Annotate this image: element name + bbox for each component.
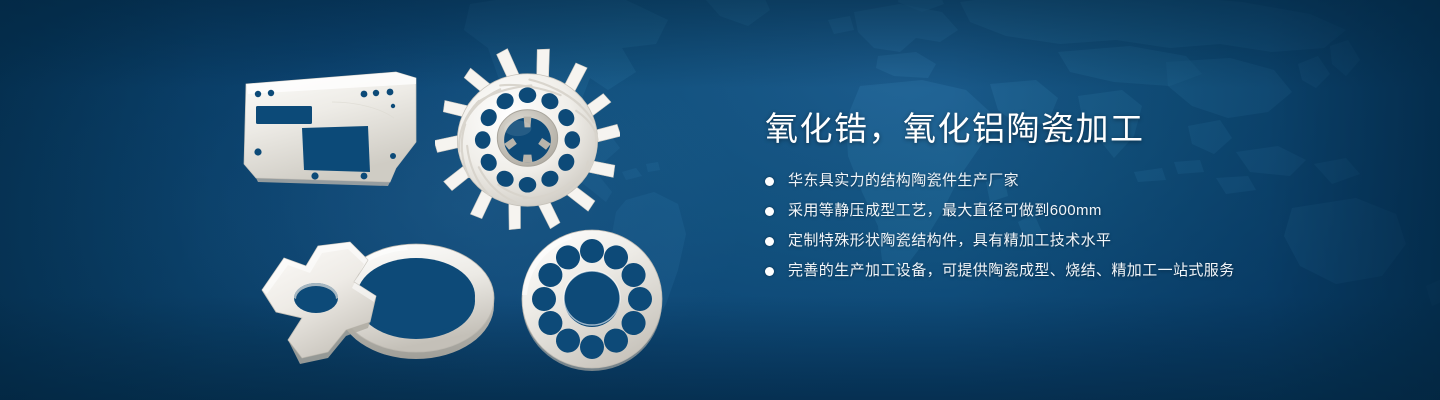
banner-headline: 氧化锆，氧化铝陶瓷加工 [765,108,1385,150]
feature-item: 采用等静压成型工艺，最大直径可做到600mm [765,200,1385,222]
ceramic-perforated-disc-image [512,225,672,375]
bullet-dot-icon [765,267,774,276]
feature-item: 完善的生产加工设备，可提供陶瓷成型、烧结、精加工一站式服务 [765,260,1385,282]
feature-text: 完善的生产加工设备，可提供陶瓷成型、烧结、精加工一站式服务 [788,262,1235,279]
bullet-dot-icon [765,237,774,246]
ceramic-mounting-plate-image [240,68,430,188]
ceramic-impeller-image [435,44,620,234]
feature-text: 采用等静压成型工艺，最大直径可做到600mm [788,202,1102,219]
hero-banner: 氧化锆，氧化铝陶瓷加工 华东具实力的结构陶瓷件生产厂家 采用等静压成型工艺，最大… [0,0,1440,400]
feature-text: 定制特殊形状陶瓷结构件，具有精加工技术水平 [788,232,1111,249]
feature-text: 华东具实力的结构陶瓷件生产厂家 [788,172,1019,189]
banner-copy: 氧化锆，氧化铝陶瓷加工 华东具实力的结构陶瓷件生产厂家 采用等静压成型工艺，最大… [765,108,1385,282]
bullet-dot-icon [765,207,774,216]
feature-item: 定制特殊形状陶瓷结构件，具有精加工技术水平 [765,230,1385,252]
product-image-cluster [230,40,700,380]
ceramic-cross-and-ring-image [248,220,513,370]
bullet-dot-icon [765,177,774,186]
banner-feature-list: 华东具实力的结构陶瓷件生产厂家 采用等静压成型工艺，最大直径可做到600mm 定… [765,170,1385,282]
feature-item: 华东具实力的结构陶瓷件生产厂家 [765,170,1385,192]
